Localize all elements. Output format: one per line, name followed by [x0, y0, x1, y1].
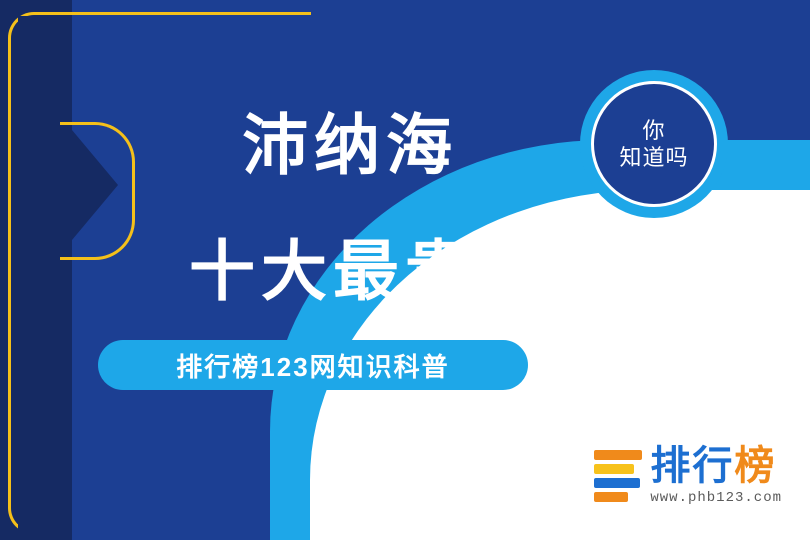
logo-bar-1	[594, 450, 642, 460]
logo-text-wrap: 排行榜 www.phb123.com	[650, 446, 782, 506]
subtitle-text: 排行榜123网知识科普	[176, 347, 449, 384]
logo-title-main: 排行	[650, 444, 734, 488]
logo-bar-4	[594, 492, 628, 502]
logo-bars-icon	[594, 450, 642, 502]
subtitle-pill: 排行榜123网知识科普	[98, 340, 528, 390]
poster-canvas: 你 知道吗 沛纳海 十大最贵的表 排行榜123网知识科普 排行榜 www.phb…	[0, 0, 810, 540]
title-line-2: 十大最贵的表	[0, 238, 810, 304]
logo-bar-2	[594, 464, 634, 474]
logo-bar-3	[594, 478, 640, 488]
site-logo: 排行榜 www.phb123.com	[594, 446, 782, 506]
logo-url: www.phb123.com	[650, 490, 782, 506]
logo-title-accent: 榜	[734, 444, 776, 488]
title-line-1: 沛纳海	[0, 112, 700, 178]
logo-title: 排行榜	[650, 446, 776, 486]
